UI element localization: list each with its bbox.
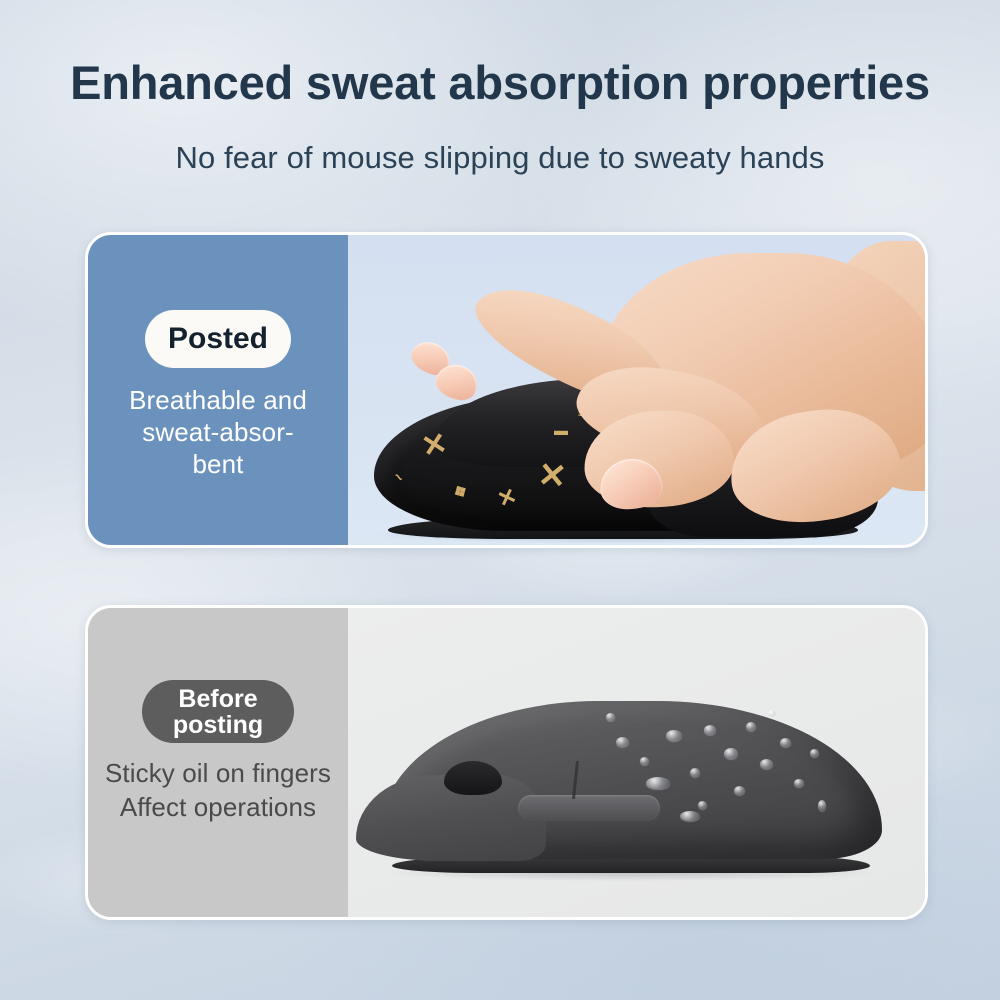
product-infographic: Enhanced sweat absorption properties No …	[0, 0, 1000, 1000]
status-badge-posted: Posted	[145, 310, 291, 368]
page-title: Enhanced sweat absorption properties	[0, 55, 1000, 110]
sweat-droplet	[734, 786, 745, 795]
sweat-droplet	[760, 759, 773, 769]
info-panel-before: Before posting Sticky oil on fingers Aff…	[88, 608, 348, 917]
sweat-droplet	[666, 730, 682, 741]
sweat-droplet	[606, 713, 615, 721]
mouse-button	[518, 795, 660, 821]
grip-pattern-dash: ▬	[554, 423, 568, 437]
sweat-droplet	[646, 777, 670, 789]
sweat-droplet	[616, 737, 629, 747]
scroll-wheel	[444, 761, 502, 795]
page-subtitle: No fear of mouse slipping due to sweaty …	[0, 140, 1000, 176]
info-panel-posted: Posted Breathable and sweat-absor- bent	[88, 235, 348, 545]
grip-pattern-x: ✕	[536, 458, 568, 495]
sweat-droplet	[640, 757, 649, 765]
sweat-droplet	[704, 725, 716, 735]
sweat-droplet	[768, 710, 776, 717]
panel-description-before: Sticky oil on fingers Affect operations	[105, 757, 331, 825]
product-photo-mouse-with-droplets	[348, 608, 925, 917]
sweat-droplet	[818, 800, 826, 811]
status-badge-before: Before posting	[142, 680, 294, 743]
comparison-card-posted: Posted Breathable and sweat-absor- bent …	[85, 232, 928, 548]
sweat-droplet	[690, 768, 700, 777]
sweat-droplet	[680, 811, 700, 821]
panel-description-posted: Breathable and sweat-absor- bent	[129, 384, 307, 481]
sweat-droplet	[724, 748, 738, 759]
sweat-droplet	[698, 801, 707, 809]
sweat-droplet	[810, 749, 819, 757]
product-photo-hand-on-mouse: ✕ ✕ ✕ ▦ ||| ❖ ≡ ~ ◆ ▬	[348, 235, 925, 545]
comparison-card-before-posting: Before posting Sticky oil on fingers Aff…	[85, 605, 928, 920]
sweat-droplet	[780, 738, 791, 747]
sweat-droplet	[746, 722, 756, 731]
sweat-droplet	[794, 779, 804, 787]
